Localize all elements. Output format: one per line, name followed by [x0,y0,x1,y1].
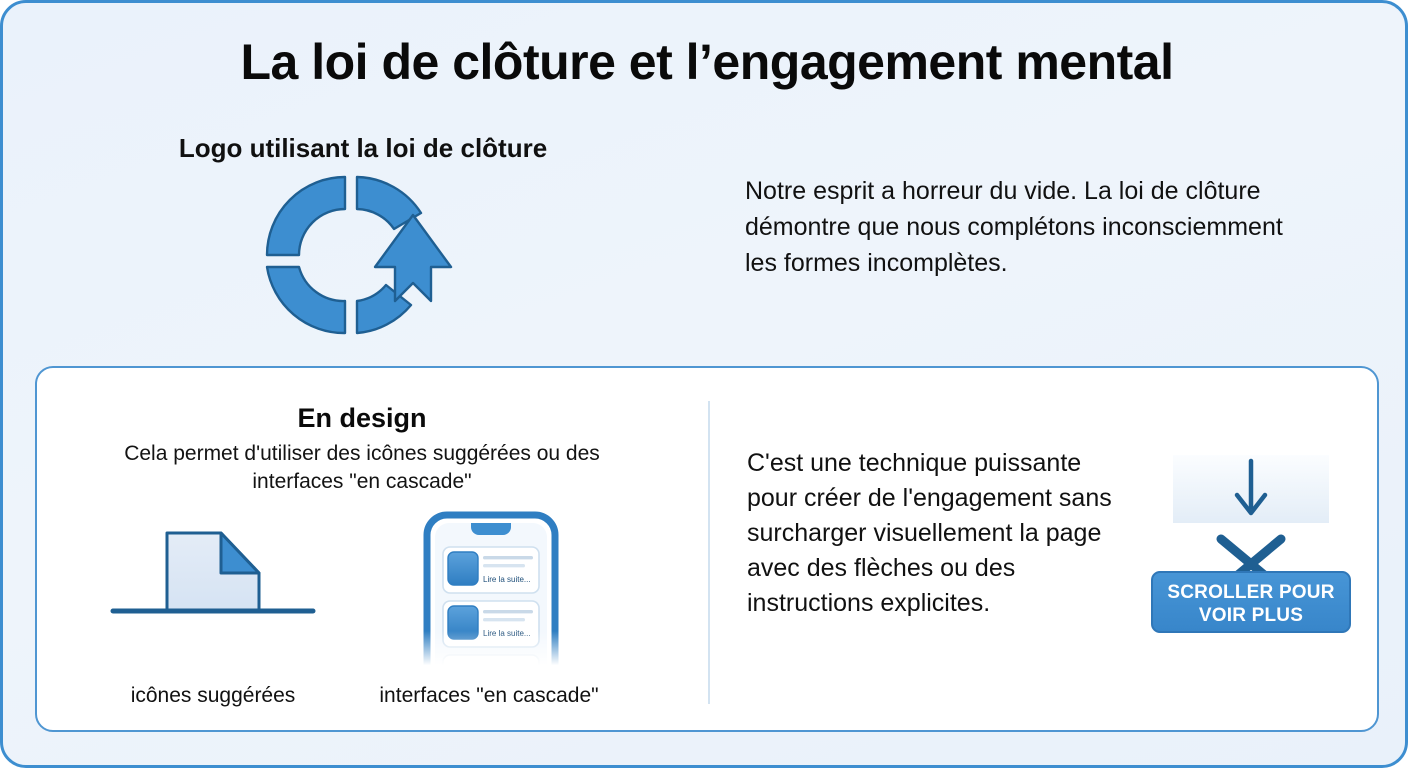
document-svg [107,523,319,623]
document-folded-corner-icon [107,523,319,623]
design-subtitle: Cela permet d'utiliser des icônes suggér… [99,440,625,496]
phone-svg: Lire la suite... Lire la suite... [423,511,559,671]
phone-cascade-list-icon: Lire la suite... Lire la suite... [423,511,559,671]
segmented-circle-arrow-logo [261,171,471,339]
scroll-button-label-line1: SCROLLER POUR [1153,581,1349,604]
page-title: La loi de clôture et l’engagement mental [3,33,1408,91]
infographic-poster: La loi de clôture et l’engagement mental… [0,0,1408,768]
scroller-pour-voir-plus-button[interactable]: SCROLLER POUR VOIR PLUS [1151,571,1351,633]
scroll-button-label-line2: VOIR PLUS [1153,604,1349,627]
logo-section-heading: Logo utilisant la loi de clôture [137,133,589,164]
caption-suggested-icons: icônes suggérées [108,684,318,708]
scroll-hint-widget: SCROLLER POUR VOIR PLUS [1151,455,1351,639]
cta-paragraph: C'est une technique puissante pour créer… [747,446,1127,621]
card-link-label-1: Lire la suite... [483,575,531,584]
arrow-down-icon [1173,455,1329,523]
caption-cascade-interfaces: interfaces "en cascade" [355,684,623,708]
intro-paragraph: Notre esprit a horreur du vide. La loi d… [745,173,1305,281]
logo-svg [261,171,471,339]
card-vertical-divider [708,401,710,704]
design-heading: En design [103,403,621,434]
card-link-label-2: Lire la suite... [483,629,531,638]
